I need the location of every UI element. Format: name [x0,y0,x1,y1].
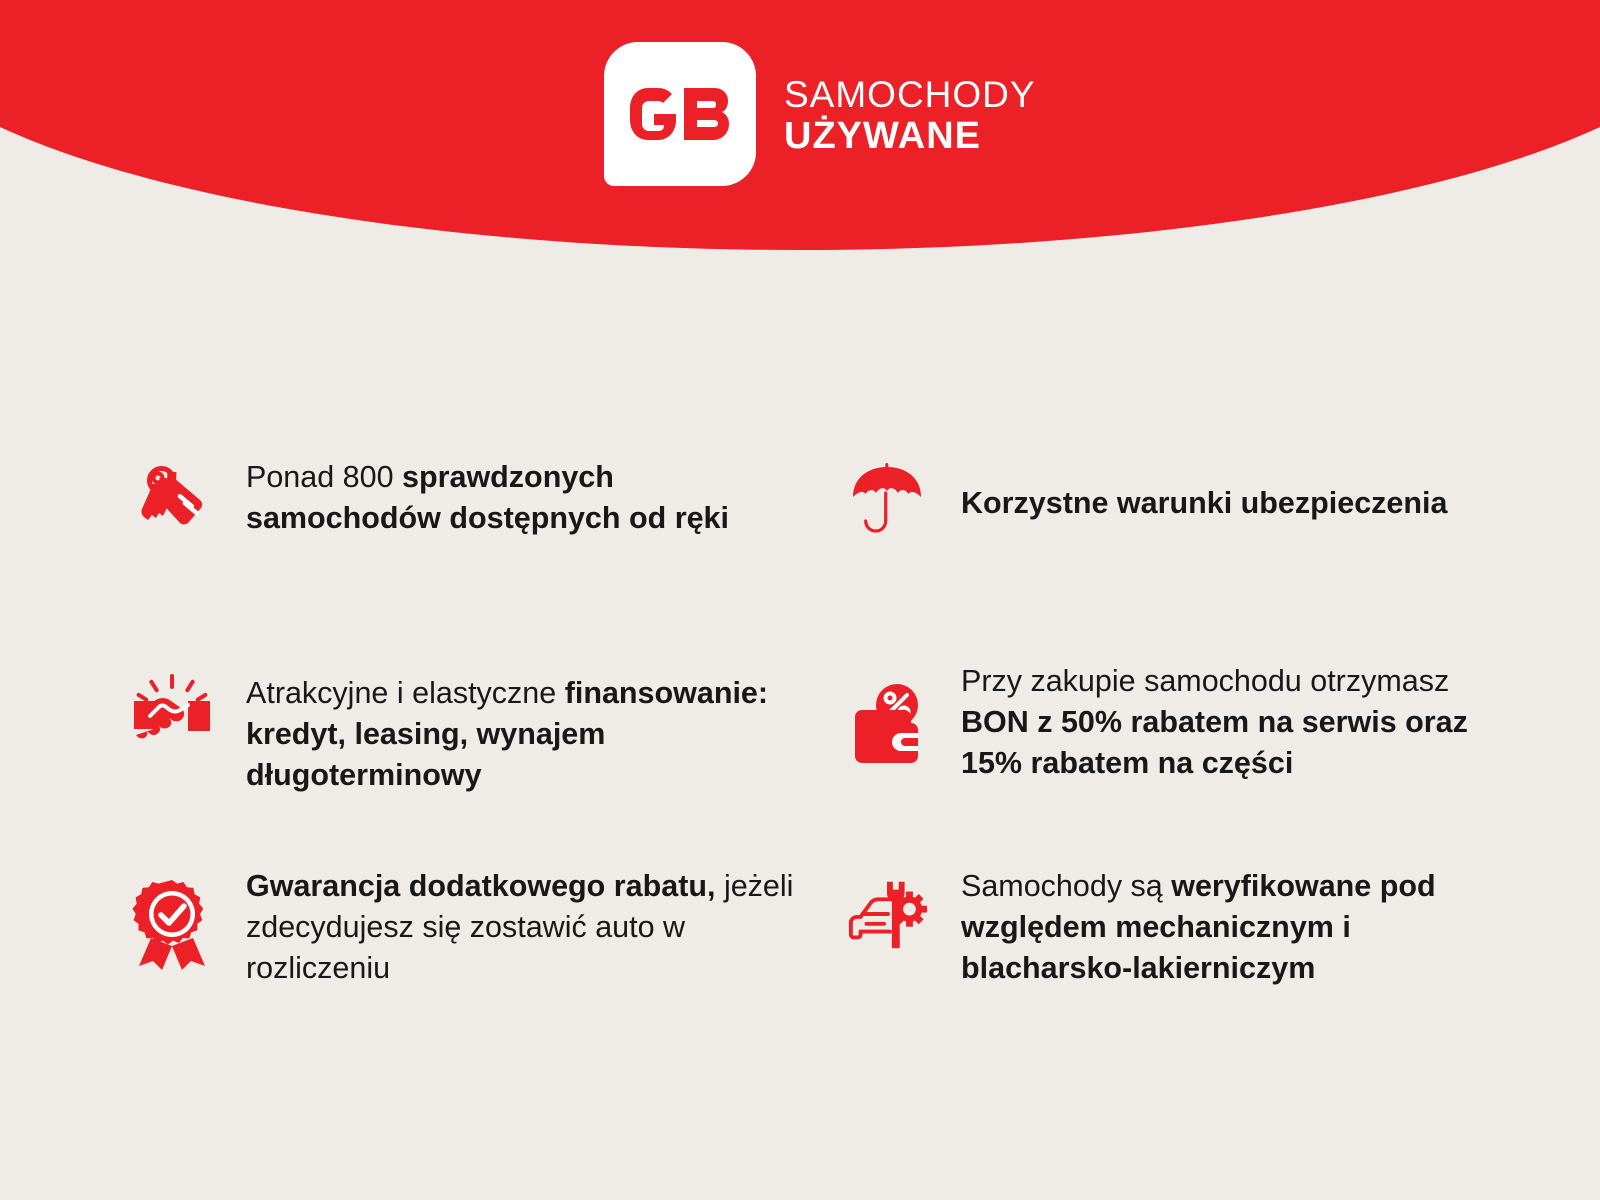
feature-text-insurance: Korzystne warunki ubezpieczenia [961,455,1447,524]
handshake-icon [130,669,214,753]
feature-text-regular: Atrakcyjne i elastyczne [246,676,565,710]
feature-text-trade-in-discount: Gwarancja dodatkowego rabatu, jeżeli zde… [246,864,801,989]
feature-text-bold: Korzystne warunki ubezpieczenia [961,486,1447,520]
feature-item-verification: Samochody są weryfikowane pod względem m… [845,864,1560,1054]
feature-item-voucher: Przy zakupie samochodu otrzymasz BON z 5… [845,659,1560,854]
gb-logo-mark [604,42,756,186]
car-service-icon [845,872,929,956]
feature-text-regular: Samochody są [961,869,1171,903]
feature-text-financing: Atrakcyjne i elastyczne finansowanie: kr… [246,659,801,796]
gb-monogram-icon [628,86,732,142]
brand-wordmark-line2: UŻYWANE [784,115,1036,158]
feature-item-available-cars: Ponad 800 sprawdzonych samochodów dostęp… [130,455,845,645]
feature-text-bold: BON z 50% rabatem na serwis oraz 15% rab… [961,705,1468,780]
feature-item-insurance: Korzystne warunki ubezpieczenia [845,455,1560,645]
feature-text-available-cars: Ponad 800 sprawdzonych samochodów dostęp… [246,455,801,539]
car-keys-icon [130,455,214,539]
brand-wordmark-line1: SAMOCHODY [784,75,1036,115]
award-badge-icon [130,882,214,966]
feature-text-voucher: Przy zakupie samochodu otrzymasz BON z 5… [961,659,1516,784]
feature-text-verification: Samochody są weryfikowane pod względem m… [961,864,1516,989]
feature-item-financing: Atrakcyjne i elastyczne finansowanie: kr… [130,659,845,854]
header-banner: SAMOCHODY UŻYWANE [0,0,1600,250]
brand-logo-lockup[interactable]: SAMOCHODY UŻYWANE [604,42,1036,186]
umbrella-icon [845,455,929,539]
feature-list: Ponad 800 sprawdzonych samochodów dostęp… [0,435,1600,1054]
feature-text-bold: Gwarancja dodatkowego rabatu, [246,869,715,903]
brand-wordmark: SAMOCHODY UŻYWANE [784,75,1036,158]
feature-text-regular: Ponad 800 [246,460,402,494]
wallet-percent-icon [845,683,929,767]
feature-item-trade-in-discount: Gwarancja dodatkowego rabatu, jeżeli zde… [130,864,845,1054]
feature-text-regular: Przy zakupie samochodu otrzymasz [961,664,1449,698]
